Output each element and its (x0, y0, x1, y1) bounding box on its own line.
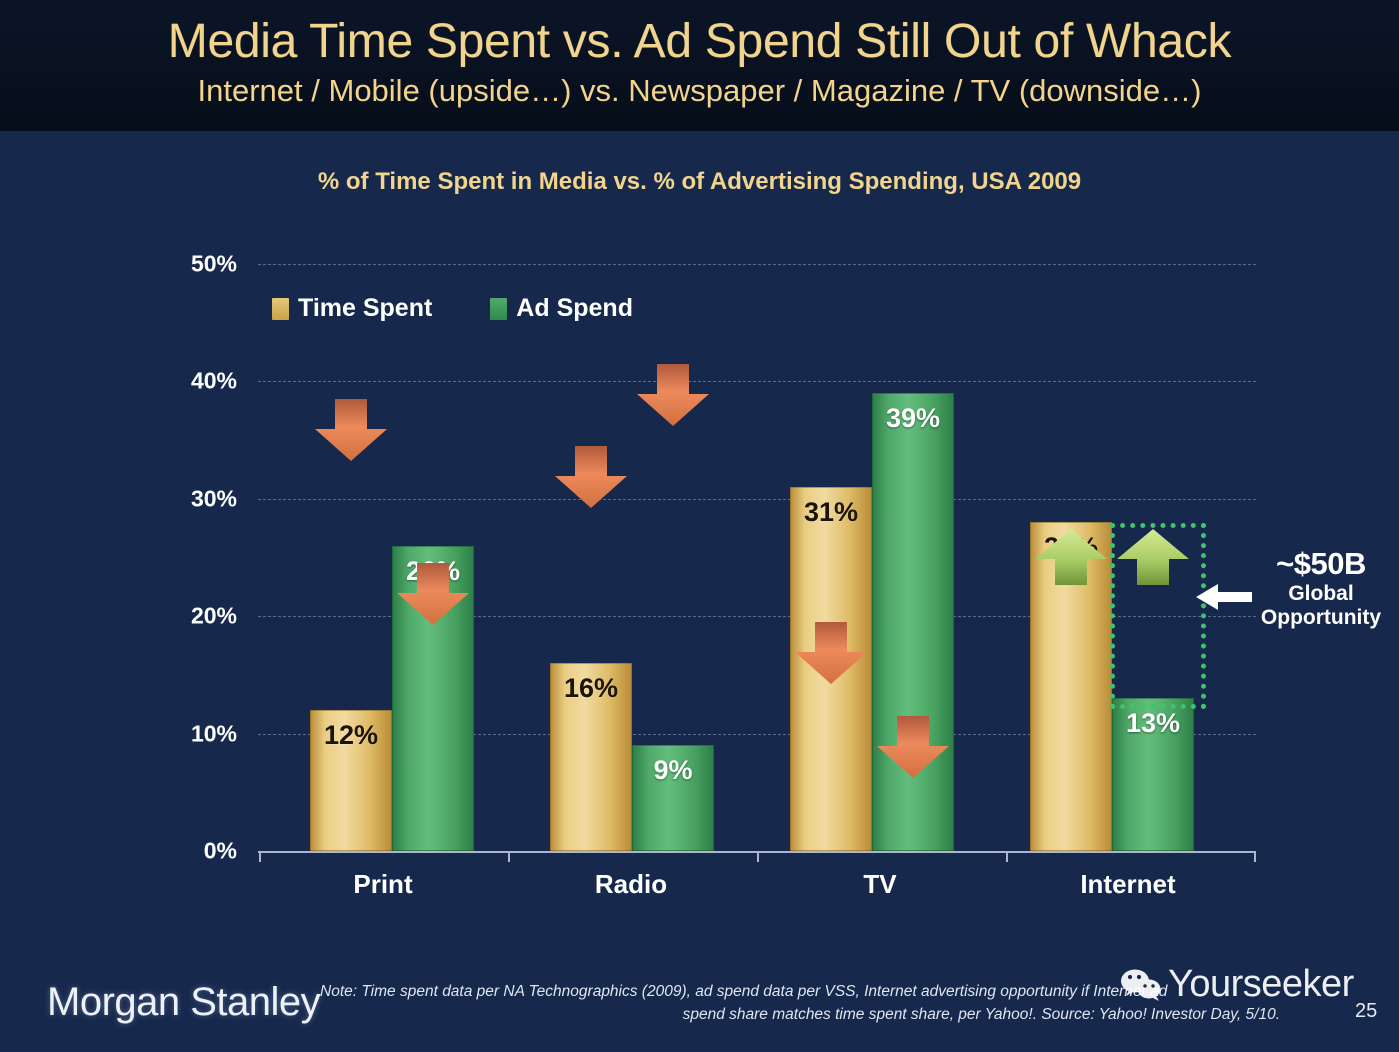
gridline-50 (258, 264, 1256, 265)
bar-internet-ad-spend[interactable]: 13% (1112, 698, 1194, 851)
bar-label-internet-ad-spend: 13% (1112, 708, 1194, 739)
y-tick-20: 20% (191, 603, 237, 630)
bar-print-time-spent[interactable]: 12% (310, 710, 392, 851)
x-label-radio: Radio (521, 869, 741, 900)
legend-label-ad-spend: Ad Spend (516, 294, 633, 323)
annotation-value: ~$50B (1246, 546, 1396, 582)
page-number: 25 (1355, 1000, 1377, 1023)
down-arrow-tv-time-spent (793, 622, 869, 686)
x-axis-tick-3 (1006, 851, 1008, 862)
down-arrow-radio-ad-spend (635, 364, 711, 428)
bar-tv-ad-spend[interactable]: 39% (872, 393, 954, 851)
down-arrow-tv-ad-spend (875, 716, 951, 780)
x-label-tv: TV (770, 869, 990, 900)
page-title: Media Time Spent vs. Ad Spend Still Out … (0, 0, 1399, 69)
bar-label-radio-time-spent: 16% (550, 673, 632, 704)
down-arrow-radio-time-spent (553, 446, 629, 510)
gridline-40 (258, 381, 1256, 382)
bar-label-print-time-spent: 12% (310, 720, 392, 751)
slide-header: Media Time Spent vs. Ad Spend Still Out … (0, 0, 1399, 131)
y-tick-10: 10% (191, 720, 237, 747)
down-arrow-print-time-spent (313, 399, 389, 463)
up-arrow-internet-time-spent (1033, 529, 1109, 587)
x-label-internet: Internet (1018, 869, 1238, 900)
x-axis-tick-left (259, 851, 261, 862)
source-note-line-2: spend share matches time spent share, pe… (316, 1003, 1336, 1026)
wechat-icon (1120, 968, 1162, 1002)
legend-swatch-ad-spend (490, 298, 507, 320)
chart-legend: Time Spent Ad Spend (272, 294, 633, 323)
watermark-text: Yourseeker (1168, 963, 1354, 1006)
chart-title: % of Time Spent in Media vs. % of Advert… (0, 168, 1399, 196)
legend-label-time-spent: Time Spent (298, 294, 432, 323)
bar-label-tv-time-spent: 31% (790, 497, 872, 528)
gridline-30 (258, 499, 1256, 500)
y-tick-40: 40% (191, 368, 237, 395)
y-tick-50: 50% (191, 251, 237, 278)
annotation-line-3: Opportunity (1246, 606, 1396, 630)
bar-label-tv-ad-spend: 39% (872, 403, 954, 434)
y-tick-30: 30% (191, 485, 237, 512)
annotation-line-2: Global (1246, 582, 1396, 606)
down-arrow-print-ad-spend (395, 563, 471, 627)
opportunity-annotation: ~$50B Global Opportunity (1246, 546, 1396, 631)
morgan-stanley-logo: Morgan Stanley (47, 980, 320, 1025)
y-tick-0: 0% (204, 838, 237, 865)
plot-area: 12% 26% 16% 9% 31% 39% 28% 13% (258, 264, 1256, 851)
bar-label-radio-ad-spend: 9% (632, 755, 714, 786)
page-subtitle: Internet / Mobile (upside…) vs. Newspape… (0, 69, 1399, 109)
up-arrow-internet-ad-spend (1115, 529, 1191, 587)
bar-radio-time-spent[interactable]: 16% (550, 663, 632, 851)
x-axis-tick-2 (757, 851, 759, 862)
x-label-print: Print (273, 869, 493, 900)
legend-swatch-time-spent (272, 298, 289, 320)
watermark: Yourseeker (1120, 963, 1354, 1006)
legend-item-ad-spend[interactable]: Ad Spend (490, 294, 633, 323)
left-arrow-icon (1196, 580, 1252, 614)
bar-radio-ad-spend[interactable]: 9% (632, 745, 714, 851)
x-axis-tick-1 (508, 851, 510, 862)
legend-item-time-spent[interactable]: Time Spent (272, 294, 432, 323)
x-axis-tick-right (1254, 851, 1256, 862)
